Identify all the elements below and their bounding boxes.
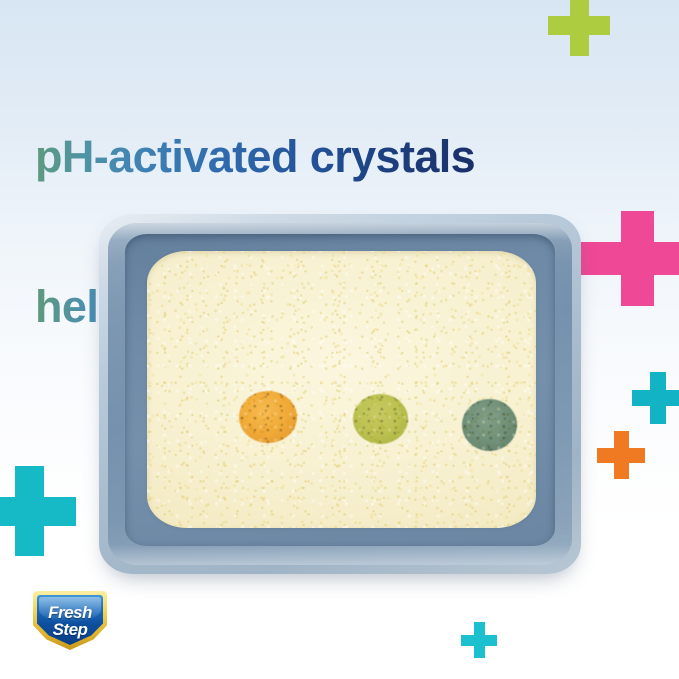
cat-litter-box: orange indicator spot yellow-green indic… — [99, 214, 581, 574]
cross-teal-left — [0, 466, 76, 556]
spot-teal-grain — [462, 399, 517, 451]
cross-teal-bottom — [461, 622, 497, 658]
cross-orange-right — [597, 431, 645, 479]
brand-logo-fresh-step[interactable]: Fresh Step — [33, 591, 107, 650]
cross-orange-right-vertical-bar — [614, 431, 629, 479]
marketing-image-canvas: pH-activated crystals help detect illnes… — [0, 0, 679, 679]
headline-line-1: pH-activated crystals — [35, 132, 645, 182]
litter-highlight-texture — [147, 251, 536, 528]
spot-yellowgreen: yellow-green indicator spot — [353, 394, 408, 444]
cross-teal-bottom-vertical-bar — [474, 622, 485, 658]
logo-word-step: Step — [33, 621, 107, 638]
litter-crystal-bed: orange indicator spot yellow-green indic… — [147, 251, 536, 528]
spot-orange: orange indicator spot — [239, 391, 297, 443]
spot-yellowgreen-grain — [353, 394, 408, 444]
spot-teal: teal-green indicator spot — [462, 399, 517, 451]
cross-teal-left-vertical-bar — [15, 466, 44, 556]
logo-word-fresh: Fresh — [33, 604, 107, 621]
cross-teal-right-vertical-bar — [650, 372, 666, 424]
spot-orange-grain — [239, 391, 297, 443]
